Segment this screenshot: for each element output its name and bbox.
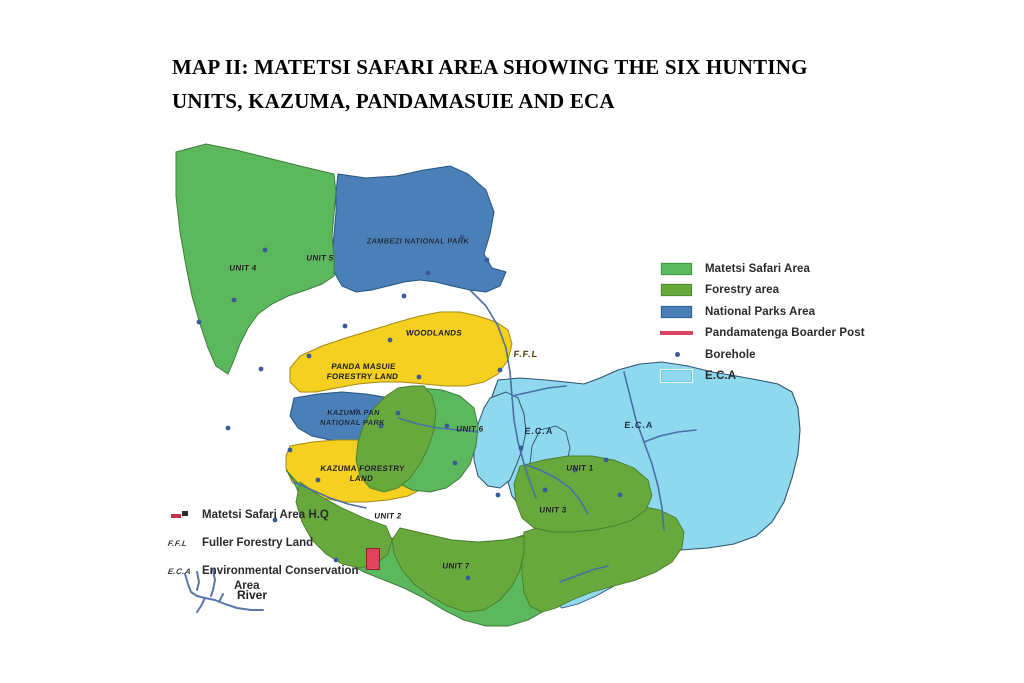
legend-item-matetsi-safari-area[interactable]: Matetsi Safari Area — [660, 258, 920, 280]
borehole-dot-icon — [660, 348, 693, 362]
legend-label-pandamatenga-boarder-post: Pandamatenga Boarder Post — [705, 327, 865, 339]
legend-label-matetsi-safari-area-hq: Matetsi Safari Area H.Q — [202, 508, 329, 523]
borehole-dot — [232, 298, 237, 303]
eca-label-line-2: Area — [202, 579, 359, 594]
eca-label-line-1: Environmental Conservation — [202, 565, 359, 577]
environmental-conservation-area-abbreviation: E.C.A — [167, 564, 203, 576]
map-legend-abbreviations: Matetsi Safari Area H.Q F.F.L Fuller For… — [168, 508, 418, 607]
fuller-forestry-land-abbreviation: F.F.L — [167, 536, 203, 548]
page-title: MAP II: MATETSI SAFARI AREA SHOWING THE … — [172, 50, 902, 118]
borehole-dot — [316, 478, 321, 483]
legend-item-eca[interactable]: E.C.A — [660, 366, 920, 388]
legend-label-matetsi-safari-area: Matetsi Safari Area — [705, 263, 810, 275]
borehole-dot — [445, 424, 450, 429]
borehole-dot — [519, 446, 524, 451]
legend-item-national-parks-area[interactable]: National Parks Area — [660, 301, 920, 323]
borehole-dot — [226, 426, 231, 431]
borehole-dot — [417, 375, 422, 380]
legend-label-fuller-forestry-land: Fuller Forestry Land — [202, 536, 313, 551]
national-parks-area-swatch — [660, 305, 693, 319]
borehole-dot — [604, 458, 609, 463]
matetsi-safari-area-hq-icon — [168, 508, 202, 511]
page-title-line-2: UNITS, KAZUMA, PANDAMASUIE AND ECA — [172, 84, 902, 118]
borehole-dot — [618, 493, 623, 498]
borehole-dot — [263, 248, 268, 253]
borehole-dot — [498, 368, 503, 373]
borehole-dot — [426, 271, 431, 276]
borehole-dot — [354, 409, 359, 414]
legend-label-forestry-area: Forestry area — [705, 284, 779, 296]
borehole-dot — [259, 367, 264, 372]
matetsi-safari-area-swatch — [660, 262, 693, 276]
legend-label-borehole: Borehole — [705, 349, 756, 361]
legend-item-forestry-area[interactable]: Forestry area — [660, 280, 920, 302]
borehole-dot — [466, 576, 471, 581]
map-legend: Matetsi Safari Area Forestry area Nation… — [660, 258, 920, 387]
map-canvas[interactable]: UNIT 4UNIT 5ZAMBEZI NATIONAL PARKWOODLAN… — [0, 130, 1024, 683]
eca-swatch — [660, 369, 693, 383]
forestry-area-swatch — [660, 283, 693, 297]
page-title-line-1: MAP II: MATETSI SAFARI AREA SHOWING THE … — [172, 50, 902, 84]
legend-item-pandamatenga-boarder-post[interactable]: Pandamatenga Boarder Post — [660, 323, 920, 345]
legend-item-borehole[interactable]: Borehole — [660, 344, 920, 366]
matetsi-safari-area-map-graphic[interactable] — [0, 130, 1024, 683]
borehole-dot — [388, 338, 393, 343]
legend-item-matetsi-safari-area-hq[interactable]: Matetsi Safari Area H.Q — [168, 508, 418, 523]
borehole-dot — [460, 235, 465, 240]
borehole-dot — [402, 294, 407, 299]
borehole-dot — [485, 258, 490, 263]
borehole-dot — [307, 354, 312, 359]
borehole-dot — [396, 411, 401, 416]
borehole-dot — [379, 424, 384, 429]
borehole-dot — [197, 320, 202, 325]
borehole-dot — [288, 448, 293, 453]
legend-item-fuller-forestry-land[interactable]: F.F.L Fuller Forestry Land — [168, 536, 418, 551]
pandamatenga-boarder-post-swatch — [660, 326, 693, 340]
borehole-dot — [543, 488, 548, 493]
legend-label-eca: E.C.A — [705, 370, 736, 382]
legend-item-environmental-conservation-area[interactable]: E.C.A Environmental Conservation Area — [168, 564, 418, 594]
legend-label-national-parks-area: National Parks Area — [705, 306, 815, 318]
borehole-dot — [573, 468, 578, 473]
legend-label-environmental-conservation-area: Environmental Conservation Area — [202, 564, 359, 594]
borehole-dot — [453, 461, 458, 466]
borehole-dot — [496, 493, 501, 498]
borehole-dot — [343, 324, 348, 329]
